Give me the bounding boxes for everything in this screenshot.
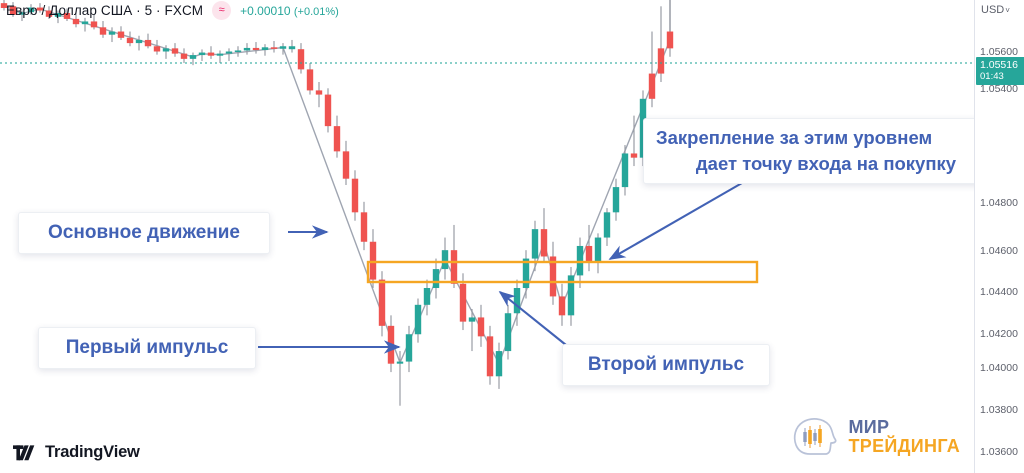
current-price-badge: 1.05516 01:43 <box>976 57 1024 85</box>
annotation-second-impulse-text: Второй импульс <box>588 354 744 376</box>
annotation-first-impulse-text: Первый импульс <box>66 337 229 359</box>
annotation-main-move-text: Основное движение <box>48 222 240 244</box>
price-tick: 1.04800 <box>980 197 1018 209</box>
approximate-quote-icon: ≈ <box>212 1 231 20</box>
annotation-first-impulse: Первый импульс <box>38 327 256 369</box>
chevron-down-icon: ˅ <box>1005 6 1010 15</box>
price-change-absolute: +0.00010 <box>240 4 290 18</box>
price-tick: 1.04200 <box>980 328 1018 340</box>
current-price-value: 1.05516 <box>980 59 1021 71</box>
price-change: +0.00010 (+0.01%) <box>240 4 339 18</box>
symbol-title[interactable]: Евро / Доллар США · 5 · FXCM <box>6 3 203 18</box>
watermark-text: МИР ТРЕЙДИНГА <box>849 418 960 456</box>
tradingview-chart-screenshot: Евро / Доллар США · 5 · FXCM ≈ +0.00010 … <box>0 0 1024 473</box>
price-tick: 1.03800 <box>980 404 1018 416</box>
price-tick: 1.03600 <box>980 446 1018 458</box>
head-profile-candles-icon <box>792 415 840 459</box>
current-bar-countdown: 01:43 <box>980 71 1021 82</box>
chart-legend: Евро / Доллар США · 5 · FXCM ≈ +0.00010 … <box>6 1 339 20</box>
price-tick: 1.04400 <box>980 286 1018 298</box>
annotation-entry-level-line2: дает точку входа на покупку <box>696 151 956 177</box>
price-tick: 1.04600 <box>980 245 1018 257</box>
watermark-line-2: ТРЕЙДИНГА <box>849 437 960 456</box>
tradingview-mark-icon <box>13 445 38 461</box>
price-scale[interactable]: USD˅ 1.056001.054001.048001.046001.04400… <box>974 0 1024 473</box>
currency-unit-selector[interactable]: USD˅ <box>981 4 1010 16</box>
watermark-line-1: МИР <box>849 418 960 437</box>
price-change-percent: (+0.01%) <box>294 6 339 18</box>
currency-unit-label: USD <box>981 4 1004 16</box>
annotation-second-impulse: Второй импульс <box>562 344 770 386</box>
tradingview-wordmark: TradingView <box>45 443 140 462</box>
annotation-entry-level: Закрепление за этим уровнем дает точку в… <box>643 118 1007 184</box>
price-tick: 1.04000 <box>980 362 1018 374</box>
annotation-main-move: Основное движение <box>18 212 270 254</box>
annotation-entry-level-line1: Закрепление за этим уровнем <box>656 125 932 151</box>
mir-treydinga-watermark: МИР ТРЕЙДИНГА <box>792 415 960 459</box>
tradingview-logo[interactable]: TradingView <box>13 443 140 462</box>
